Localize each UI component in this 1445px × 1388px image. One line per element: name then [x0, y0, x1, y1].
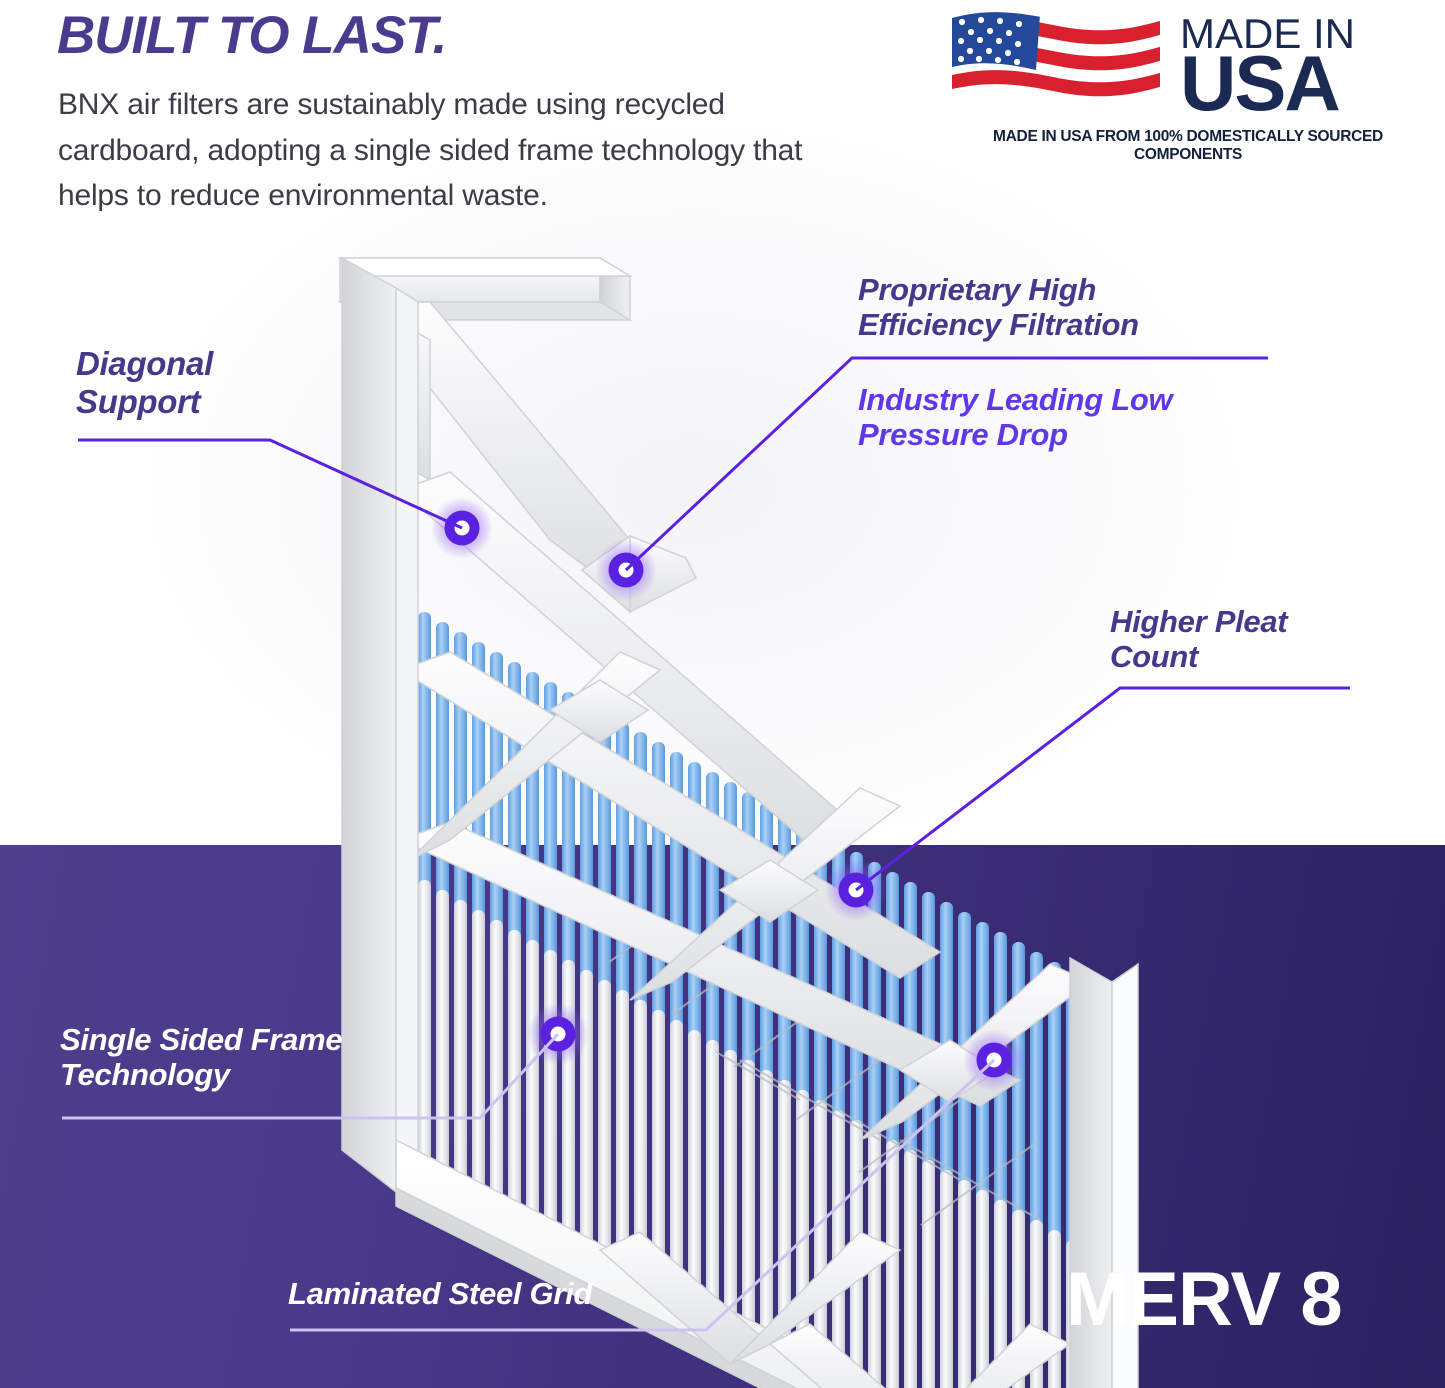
- marker-laminated-steel-grid[interactable]: [963, 1029, 1025, 1091]
- callout-diagonal-support: Diagonal Support: [76, 345, 213, 420]
- page-title: BUILT TO LAST.: [57, 8, 446, 64]
- callout-label-single-sided-frame: Single Sided Frame Technology: [60, 1022, 342, 1093]
- usa-flag-icon: [948, 8, 1163, 118]
- badge-usa-text: USA: [1180, 48, 1339, 120]
- callout-label-low-pressure-drop: Industry Leading Low Pressure Drop: [858, 382, 1172, 453]
- callout-label-high-efficiency: Proprietary High Efficiency Filtration: [858, 272, 1139, 343]
- marker-single-sided-frame[interactable]: [527, 1003, 589, 1065]
- callout-higher-pleat-count: Higher Pleat Count: [1110, 604, 1287, 675]
- marker-higher-pleat-count[interactable]: [825, 859, 887, 921]
- page-subcopy: BNX air filters are sustainably made usi…: [58, 82, 858, 219]
- badge-tagline: MADE IN USA FROM 100% DOMESTICALLY SOURC…: [948, 128, 1428, 164]
- callout-label-laminated-steel-grid: Laminated Steel Grid: [288, 1276, 592, 1311]
- callout-label-higher-pleat-count: Higher Pleat Count: [1110, 604, 1287, 675]
- callout-label-diagonal-support: Diagonal Support: [76, 345, 213, 420]
- merv-rating: MERV 8: [1066, 1256, 1342, 1343]
- callout-laminated-steel-grid: Laminated Steel Grid: [288, 1276, 592, 1311]
- callout-single-sided-frame: Single Sided Frame Technology: [60, 1022, 342, 1093]
- marker-diagonal-support[interactable]: [431, 497, 493, 559]
- callout-high-efficiency: Proprietary High Efficiency Filtration: [858, 272, 1139, 343]
- made-in-usa-badge: MADE IN USA MADE IN USA FROM 100% DOMEST…: [948, 4, 1428, 149]
- callout-low-pressure-drop: Industry Leading Low Pressure Drop: [858, 382, 1172, 453]
- marker-high-efficiency[interactable]: [595, 539, 657, 601]
